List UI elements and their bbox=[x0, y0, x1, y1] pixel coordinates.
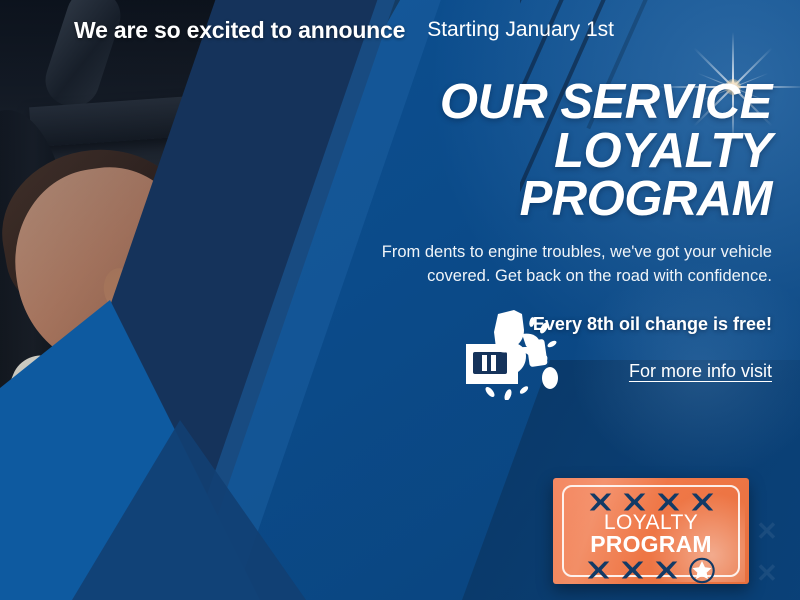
body-paragraph: From dents to engine troubles, we've got… bbox=[372, 240, 772, 289]
headline-line-3: PROGRAM bbox=[372, 175, 772, 224]
star-circle-icon bbox=[687, 557, 717, 584]
headline-line-1: OUR SERVICE bbox=[372, 78, 772, 127]
x-stamp-icon bbox=[621, 492, 648, 512]
x-stamp-icon bbox=[585, 560, 612, 580]
x-stamp-icon bbox=[689, 492, 716, 512]
offer-text: Every 8th oil change is free! bbox=[372, 314, 772, 335]
card-inner-border: LOYALTY PROGRAM bbox=[562, 485, 740, 577]
card-subtitle: PROGRAM bbox=[590, 533, 712, 557]
stamp-row-top bbox=[570, 492, 732, 512]
content-column: OUR SERVICE LOYALTY PROGRAM From dents t… bbox=[372, 78, 772, 382]
x-stamp-icon bbox=[655, 492, 682, 512]
x-stamp-icon bbox=[587, 492, 614, 512]
loyalty-card[interactable]: LOYALTY PROGRAM bbox=[553, 478, 749, 584]
loyalty-program-flyer: We are so excited to announce Starting J… bbox=[0, 0, 800, 600]
headline-line-2: LOYALTY bbox=[372, 127, 772, 176]
watermark-x-icon: ✕ bbox=[756, 516, 778, 547]
announcement-kicker: We are so excited to announce bbox=[74, 17, 405, 44]
x-stamp-icon bbox=[653, 560, 680, 580]
watermark-x-icon: ✕ bbox=[756, 558, 778, 589]
page-title: OUR SERVICE LOYALTY PROGRAM bbox=[372, 78, 772, 224]
card-text-block: LOYALTY PROGRAM bbox=[590, 512, 712, 557]
card-title: LOYALTY bbox=[590, 512, 712, 533]
header: We are so excited to announce Starting J… bbox=[0, 12, 800, 48]
oil-can-pour-icon bbox=[452, 300, 572, 400]
stamp-row-bottom bbox=[570, 557, 732, 584]
more-info-link[interactable]: For more info visit bbox=[629, 361, 772, 382]
start-date-kicker: Starting January 1st bbox=[427, 18, 614, 42]
x-stamp-icon bbox=[619, 560, 646, 580]
